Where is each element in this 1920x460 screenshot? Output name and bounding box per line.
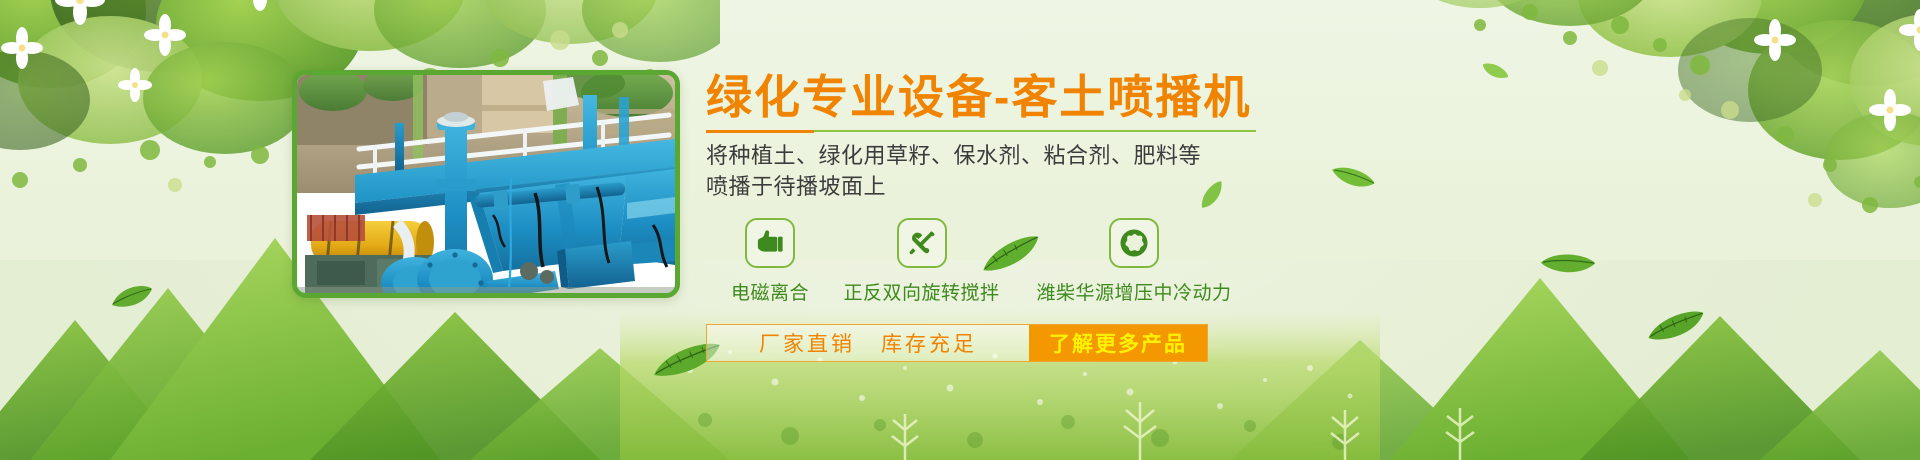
subtitle-line-1: 将种植土、绿化用草籽、保水剂、粘合剂、肥料等 xyxy=(706,140,1846,171)
cta-row: 厂家直销 库存充足 了解更多产品 xyxy=(706,324,1208,362)
feature-item-turbo-engine[interactable]: 潍柴华源增压中冷动力 xyxy=(1009,218,1259,305)
feature-item-electromagnetic-clutch[interactable]: 电磁离合 xyxy=(706,218,834,305)
learn-more-button[interactable]: 了解更多产品 xyxy=(1029,325,1207,361)
page-title: 绿化专业设备-客土喷播机 xyxy=(706,72,1846,124)
cta-slogan: 厂家直销 库存充足 xyxy=(707,325,1029,361)
gear-ring-icon xyxy=(1109,218,1159,268)
wrench-screwdriver-icon xyxy=(897,218,947,268)
promo-banner: 绿化专业设备-客土喷播机 将种植土、绿化用草籽、保水剂、粘合剂、肥料等 喷播于待… xyxy=(0,0,1920,460)
feature-label: 电磁离合 xyxy=(731,278,809,305)
cta-slogan-2: 库存充足 xyxy=(881,328,977,358)
feature-label: 潍柴华源增压中冷动力 xyxy=(1036,278,1231,305)
feature-item-bidirectional-mixing[interactable]: 正反双向旋转搅拌 xyxy=(834,218,1009,305)
banner-content: 绿化专业设备-客土喷播机 将种植土、绿化用草籽、保水剂、粘合剂、肥料等 喷播于待… xyxy=(706,72,1846,362)
thumbs-up-icon xyxy=(745,218,795,268)
feature-list: 电磁离合 正反双向旋转搅拌 xyxy=(706,218,1846,305)
product-photo-frame[interactable] xyxy=(292,70,680,298)
divider-accent xyxy=(706,130,814,133)
cta-slogan-1: 厂家直销 xyxy=(759,328,855,358)
subtitle-line-2: 喷播于待播坡面上 xyxy=(706,171,1846,202)
title-divider xyxy=(706,130,1256,133)
product-photo xyxy=(297,75,675,293)
floating-leaf-1 xyxy=(110,283,154,309)
hydroseeder-machine-illustration xyxy=(297,75,675,293)
feature-label: 正反双向旋转搅拌 xyxy=(843,278,999,305)
